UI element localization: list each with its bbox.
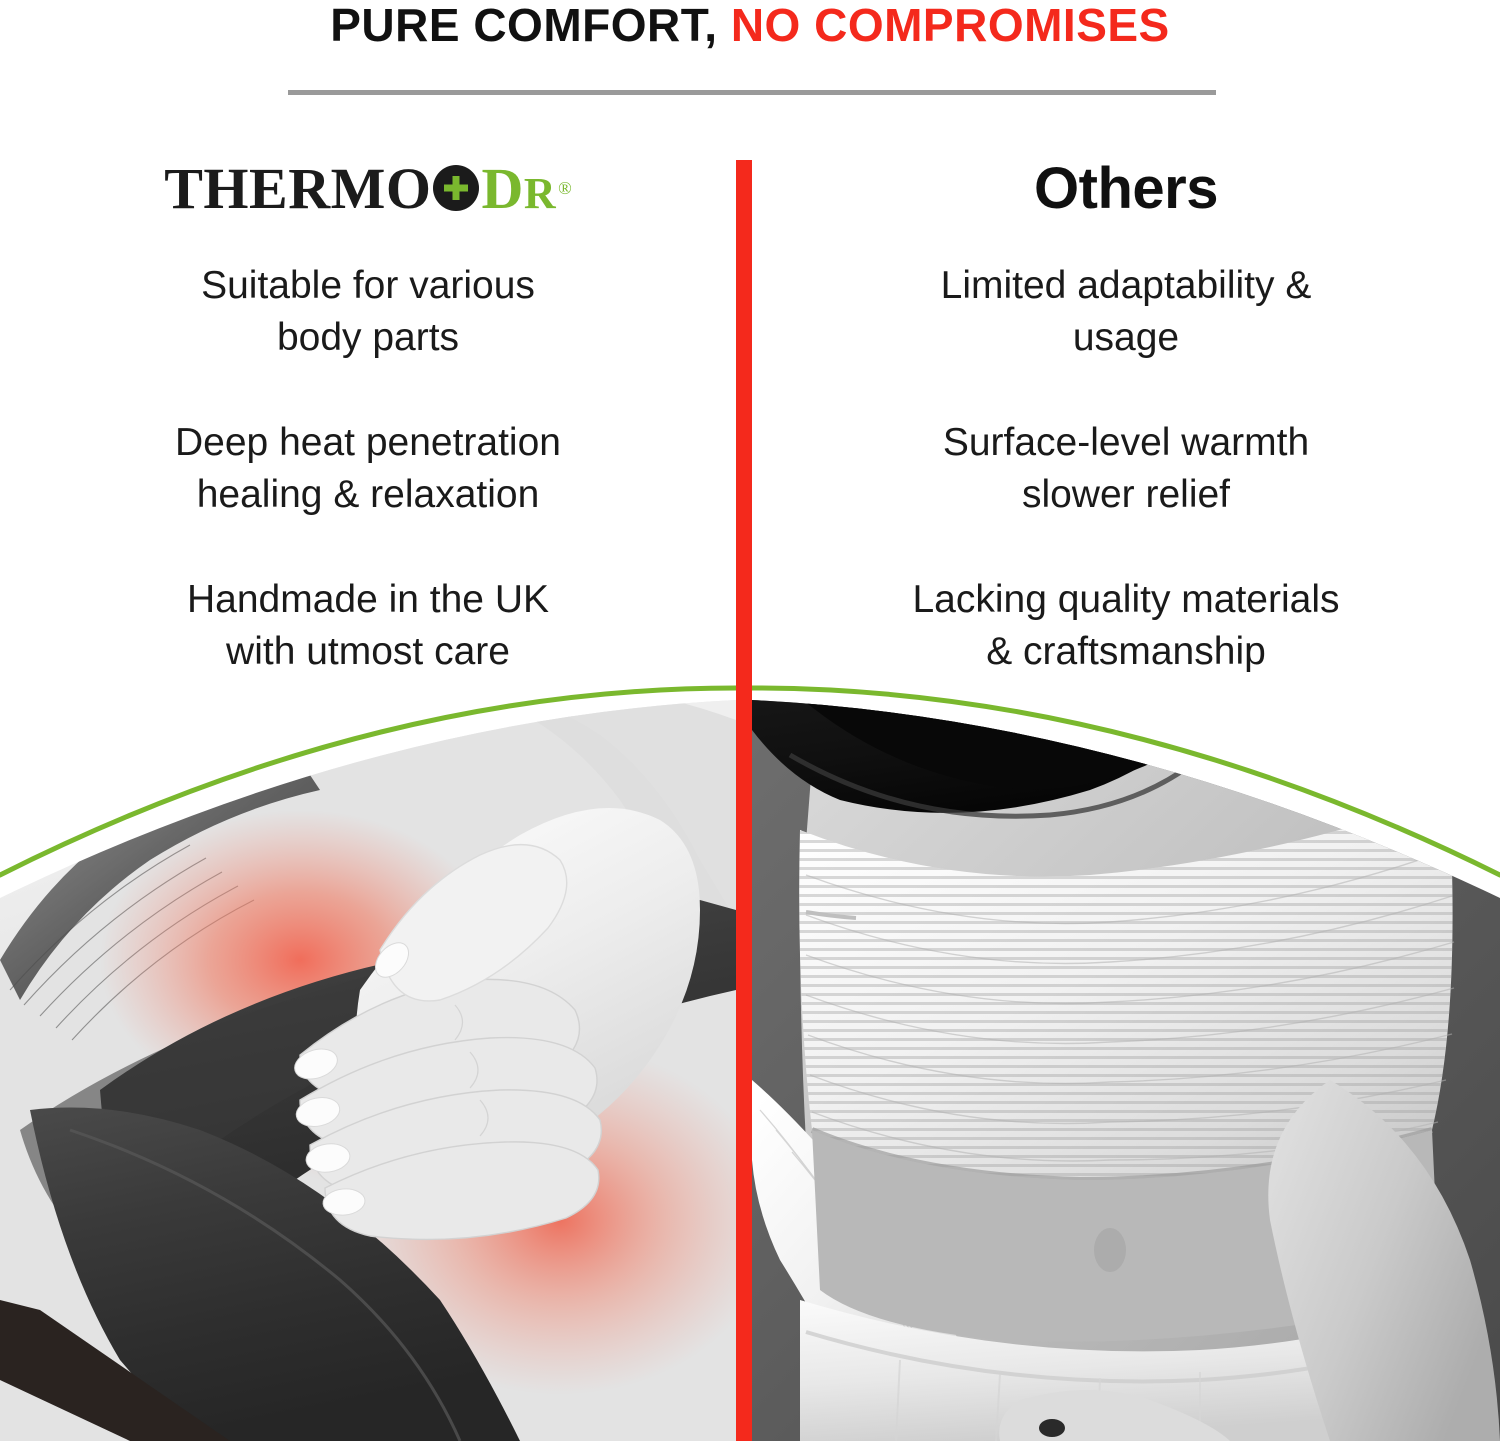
thermodr-product-photo: [0, 660, 775, 1441]
brand-logo: THERMO DR ®: [0, 140, 736, 236]
feature-item: Suitable for various body parts: [0, 256, 736, 413]
feature-line: usage: [1073, 312, 1179, 364]
others-product-photo: [752, 660, 1500, 1441]
feature-item: Surface-level warmth slower relief: [752, 413, 1500, 570]
feature-line: Surface-level warmth: [943, 417, 1309, 469]
feature-line: Deep heat penetration: [175, 417, 561, 469]
circle-plus-icon: [433, 165, 479, 211]
header-divider-rule: [288, 90, 1216, 95]
feature-line: slower relief: [1022, 469, 1230, 521]
headline-black-text: PURE COMFORT,: [330, 0, 717, 51]
vertical-divider: [736, 160, 752, 1441]
thermodr-feature-list: Suitable for various body parts Deep hea…: [0, 256, 736, 727]
others-feature-list: Limited adaptability & usage Surface-lev…: [752, 256, 1500, 727]
logo-thermo-text: THERMO: [164, 155, 431, 222]
others-heading-wrap: Others: [752, 140, 1500, 236]
comparison-graphic: PURE COMFORT, NO COMPROMISES THERMO DR ®…: [0, 0, 1500, 1441]
page-headline: PURE COMFORT, NO COMPROMISES: [0, 0, 1500, 56]
others-heading: Others: [1034, 155, 1218, 222]
feature-line: Handmade in the UK: [187, 574, 549, 626]
logo-dr-text: DR: [481, 155, 556, 222]
column-others: Others Limited adaptability & usage Surf…: [752, 140, 1500, 727]
feature-item: Limited adaptability & usage: [752, 256, 1500, 413]
feature-line: body parts: [277, 312, 459, 364]
feature-line: Suitable for various: [201, 260, 535, 312]
column-thermodr: THERMO DR ® Suitable for various body pa…: [0, 140, 736, 727]
registered-trademark-icon: ®: [558, 178, 572, 199]
feature-line: Lacking quality materials: [912, 574, 1339, 626]
feature-line: Limited adaptability &: [941, 260, 1312, 312]
headline-red-text: NO COMPROMISES: [731, 0, 1170, 51]
feature-item: Deep heat penetration healing & relaxati…: [0, 413, 736, 570]
feature-line: healing & relaxation: [197, 469, 540, 521]
